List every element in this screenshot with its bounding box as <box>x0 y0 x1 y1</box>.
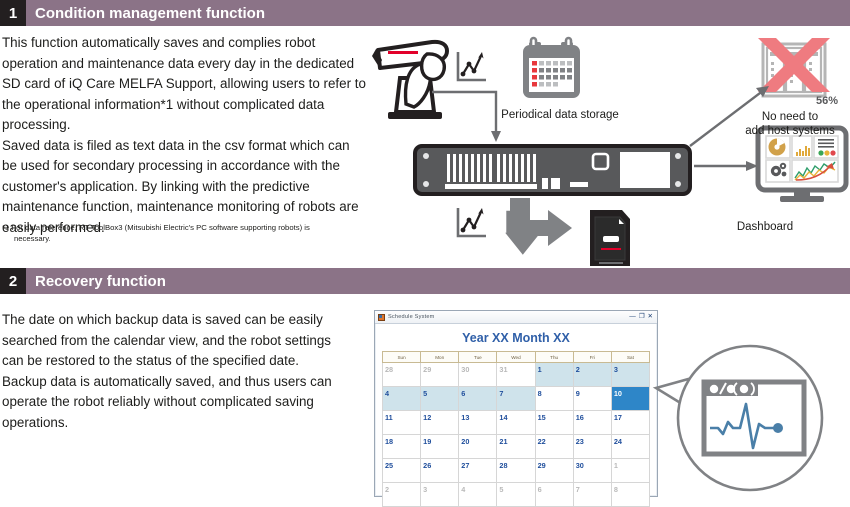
section1-footnote: *1 For data reference, RT ToolBox3 (Mits… <box>2 222 352 244</box>
calendar-day-cell[interactable]: 31 <box>497 363 535 387</box>
host-label-line2: add host systems <box>745 125 834 137</box>
sd-card-icon <box>590 210 630 266</box>
calendar-day-cell[interactable]: 25 <box>383 459 421 483</box>
schedule-system-window: Schedule System — ❐ ✕ Year XX Month XX S… <box>374 310 658 497</box>
section1-body-text: This function automatically saves and co… <box>2 33 368 238</box>
calendar-day-cell[interactable]: 4 <box>459 483 497 507</box>
calendar-table: SunMonTueWedThuFriSat 282930311234567891… <box>382 351 650 507</box>
calendar-week-row: 2345678 <box>383 483 650 507</box>
calendar-day-cell[interactable]: 2 <box>383 483 421 507</box>
calendar-day-cell[interactable]: 11 <box>383 411 421 435</box>
calendar-day-cell[interactable]: 22 <box>535 435 573 459</box>
calendar-day-cell[interactable]: 19 <box>421 435 459 459</box>
maximize-button[interactable]: ❐ <box>639 314 645 320</box>
calendar-day-cell[interactable]: 6 <box>459 387 497 411</box>
calendar-day-header: Fri <box>573 352 611 363</box>
magnifier-callout <box>620 340 850 500</box>
footnote-line-2: necessary. <box>2 233 352 244</box>
calendar-day-cell[interactable]: 29 <box>421 363 459 387</box>
calendar-day-cell[interactable]: 28 <box>497 459 535 483</box>
calendar-week-row: 11121314151617 <box>383 411 650 435</box>
calendar-day-cell[interactable]: 18 <box>383 435 421 459</box>
section-title-2: Recovery function <box>26 268 850 294</box>
calendar-week-row: 18192021222324 <box>383 435 650 459</box>
calendar-day-cell[interactable]: 20 <box>459 435 497 459</box>
window-title-text: Schedule System <box>388 314 629 320</box>
page-root: 1 Condition management function This fun… <box>0 0 850 500</box>
calendar-day-cell[interactable]: 5 <box>497 483 535 507</box>
calendar-label: Periodical data storage <box>490 108 630 122</box>
calendar-day-cell[interactable]: 16 <box>573 411 611 435</box>
section2-body-text: The date on which backup data is saved c… <box>2 310 354 433</box>
calendar-day-cell[interactable]: 23 <box>573 435 611 459</box>
host-label: No need to add host systems <box>730 110 850 138</box>
magnified-window <box>704 382 804 454</box>
calendar-day-cell[interactable]: 30 <box>573 459 611 483</box>
calendar-day-cell[interactable]: 13 <box>459 411 497 435</box>
section-number-1: 1 <box>0 0 26 26</box>
dashboard-monitor-icon <box>758 128 846 202</box>
line-graph-icon-2 <box>458 208 486 236</box>
app-icon <box>378 314 385 321</box>
line-graph-icon <box>458 52 486 80</box>
calendar-header-row: SunMonTueWedThuFriSat <box>383 352 650 363</box>
calendar-week-row: 2526272829301 <box>383 459 650 483</box>
section-title-1: Condition management function <box>26 0 850 26</box>
calendar-day-cell[interactable]: 29 <box>535 459 573 483</box>
calendar-day-cell[interactable]: 14 <box>497 411 535 435</box>
calendar-day-cell[interactable]: 12 <box>421 411 459 435</box>
calendar-day-cell[interactable]: 2 <box>573 363 611 387</box>
minimize-button[interactable]: — <box>629 314 636 320</box>
calendar-day-header: Thu <box>535 352 573 363</box>
window-controls: — ❐ ✕ <box>629 314 654 320</box>
calendar-day-header: Tue <box>459 352 497 363</box>
calendar-day-cell[interactable]: 7 <box>573 483 611 507</box>
calendar-day-header: Sun <box>383 352 421 363</box>
calendar-day-cell[interactable]: 5 <box>421 387 459 411</box>
section-header-1: 1 Condition management function <box>0 0 850 26</box>
host-label-line1: No need to <box>762 111 818 123</box>
dashboard-label: Dashboard <box>710 220 820 234</box>
calendar-title: Year XX Month XX <box>375 331 657 345</box>
calendar-body: 2829303112345678910111213141516171819202… <box>383 363 650 507</box>
calendar-day-cell[interactable]: 1 <box>535 363 573 387</box>
dashboard-percent-value: 56% <box>816 95 838 107</box>
calendar-day-cell[interactable]: 3 <box>421 483 459 507</box>
arrow-to-dashboard-icon <box>694 161 758 171</box>
calendar-day-header: Wed <box>497 352 535 363</box>
calendar-day-cell[interactable]: 8 <box>535 387 573 411</box>
calendar-day-header: Mon <box>421 352 459 363</box>
calendar-day-cell[interactable]: 26 <box>421 459 459 483</box>
calendar-icon <box>523 38 580 98</box>
close-button[interactable]: ✕ <box>648 314 653 320</box>
calendar-week-row: 28293031123 <box>383 363 650 387</box>
calendar-day-cell[interactable]: 15 <box>535 411 573 435</box>
calendar-week-row: 45678910 <box>383 387 650 411</box>
calendar-day-cell[interactable]: 27 <box>459 459 497 483</box>
calendar-day-cell[interactable]: 6 <box>535 483 573 507</box>
calendar-day-cell[interactable]: 30 <box>459 363 497 387</box>
calendar-day-cell[interactable]: 28 <box>383 363 421 387</box>
calendar-day-cell[interactable]: 21 <box>497 435 535 459</box>
robot-controller-icon <box>415 146 690 194</box>
calendar-day-cell[interactable]: 4 <box>383 387 421 411</box>
calendar-day-cell[interactable]: 7 <box>497 387 535 411</box>
section-header-2: 2 Recovery function <box>0 268 850 294</box>
window-title-bar[interactable]: Schedule System — ❐ ✕ <box>375 311 657 324</box>
calendar-day-cell[interactable]: 9 <box>573 387 611 411</box>
section-number-2: 2 <box>0 268 26 294</box>
footnote-line-1: *1 For data reference, RT ToolBox3 (Mits… <box>2 223 310 232</box>
industrial-robot-icon <box>372 42 447 119</box>
